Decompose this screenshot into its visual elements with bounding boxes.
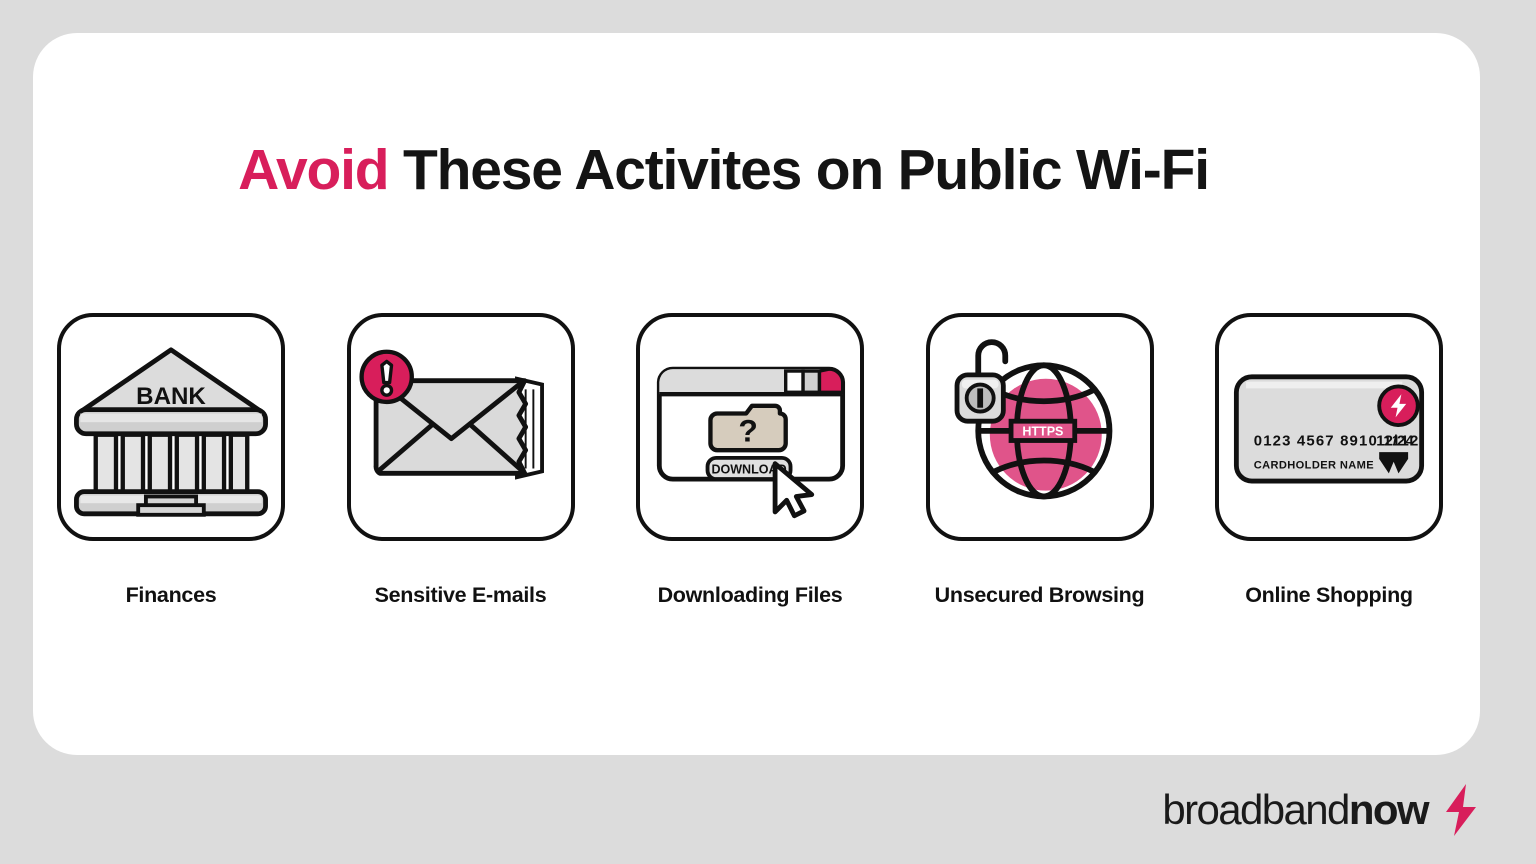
activity-label-downloading-files: Downloading Files <box>658 583 843 608</box>
bank-sign-text: BANK <box>136 383 206 410</box>
lightning-bolt-icon <box>1440 784 1480 836</box>
open-padlock-icon <box>957 342 1005 421</box>
activity-label-online-shopping: Online Shopping <box>1245 583 1412 608</box>
unsecured-globe-icon: HTTPS <box>930 317 1150 537</box>
brand-logo-bold: now <box>1349 786 1428 833</box>
activity-label-finances: Finances <box>126 583 217 608</box>
activity-item-finances: BANK <box>55 313 287 608</box>
unsecured-browsing-tile: HTTPS <box>926 313 1154 541</box>
page-title-rest: These Activites on Public Wi-Fi <box>388 138 1208 202</box>
https-band-text: HTTPS <box>1022 425 1063 439</box>
activity-item-sensitive-emails: Sensitive E-mails <box>345 313 577 608</box>
bank-icon: BANK <box>61 317 281 537</box>
activity-list: BANK <box>55 313 1445 608</box>
brand-logo-light: broadband <box>1162 786 1348 833</box>
card-holder-text: CARDHOLDER NAME <box>1254 459 1374 471</box>
activity-label-unsecured-browsing: Unsecured Browsing <box>935 583 1145 608</box>
brand-logo[interactable]: broadbandnow <box>1162 784 1480 836</box>
folder-question-text: ? <box>738 412 757 448</box>
activity-label-sensitive-emails: Sensitive E-mails <box>375 583 547 608</box>
download-file-icon: ? DOWNLOAD <box>640 317 860 537</box>
brand-logo-text: broadbandnow <box>1162 789 1428 831</box>
alert-badge-icon <box>361 352 411 402</box>
activity-item-downloading-files: ? DOWNLOAD Downloading Files <box>634 313 866 608</box>
activity-item-unsecured-browsing: HTTPS Unsecured Browsing <box>924 313 1156 608</box>
card-expiry-text: 12/24 <box>1376 432 1414 449</box>
sensitive-email-icon <box>351 317 571 537</box>
card-alert-badge-icon <box>1379 386 1418 425</box>
bank-tile: BANK <box>57 313 285 541</box>
credit-card-tile: 0123 4567 8910 1112 12/24 CARDHOLDER NAM… <box>1215 313 1443 541</box>
activity-item-online-shopping: 0123 4567 8910 1112 12/24 CARDHOLDER NAM… <box>1213 313 1445 608</box>
download-tile: ? DOWNLOAD <box>636 313 864 541</box>
sensitive-email-tile <box>347 313 575 541</box>
infographic-root: Avoid These Activites on Public Wi-Fi BA… <box>0 0 1536 864</box>
page-title-accent: Avoid <box>238 138 388 202</box>
page-title: Avoid These Activites on Public Wi-Fi <box>0 137 1447 203</box>
credit-card-icon: 0123 4567 8910 1112 12/24 CARDHOLDER NAM… <box>1219 317 1439 537</box>
